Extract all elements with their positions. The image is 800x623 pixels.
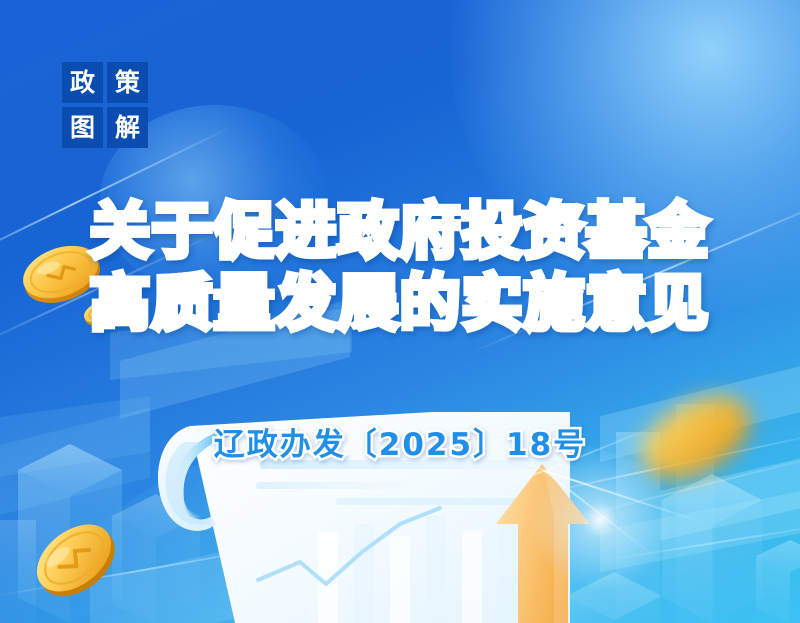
policy-illustration-badge: 政 策 图 解 xyxy=(62,62,148,148)
top-right-glow xyxy=(450,0,800,310)
gold-coin-bottom-left xyxy=(24,508,124,613)
badge-char-ce: 策 xyxy=(107,62,148,103)
gold-coin-small xyxy=(80,294,124,333)
gold-coin-blurred-right xyxy=(626,378,766,503)
coin-graphic xyxy=(626,378,766,498)
background-panel xyxy=(0,408,150,523)
policy-infographic-poster: 政 策 图 解 xyxy=(0,0,800,623)
coin-graphic xyxy=(24,508,124,608)
coin-graphic xyxy=(80,294,124,328)
badge-char-zheng: 政 xyxy=(62,62,103,103)
badge-char-tu: 图 xyxy=(62,107,103,148)
light-streak xyxy=(470,184,800,354)
title-line-1: 关于促进政府投资基金 xyxy=(0,196,800,268)
light-streak xyxy=(600,519,800,562)
background-panel xyxy=(120,299,350,419)
badge-char-jie: 解 xyxy=(107,107,148,148)
